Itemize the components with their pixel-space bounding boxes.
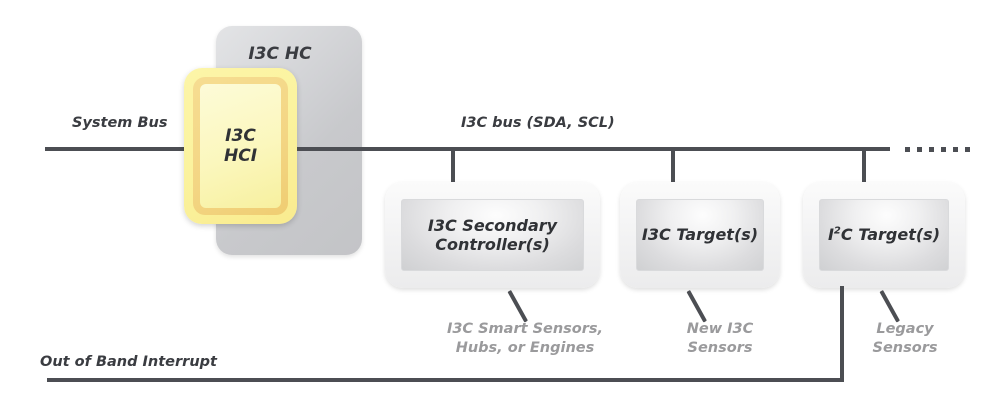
device-inner-panel: I3C Target(s): [636, 199, 764, 271]
caption-line2: Sensors: [688, 340, 753, 356]
caption-line2: Hubs, or Engines: [456, 340, 595, 356]
device-title: I3C Target(s): [642, 225, 758, 244]
caption-line1: I3C Smart Sensors,: [447, 321, 603, 337]
device-title-superscript: 2: [834, 226, 841, 237]
device-title: I2C Target(s): [828, 225, 940, 244]
bus-dot: [905, 147, 910, 152]
device-inner-panel: I2C Target(s): [819, 199, 949, 271]
caption-legacy-sensors: Legacy Sensors: [825, 320, 985, 357]
system-bus-line: [45, 147, 192, 151]
device-box-i2c-target[interactable]: I2C Target(s): [803, 182, 965, 288]
device-title: I3C Secondary Controller(s): [428, 216, 557, 254]
i3c-hci-label-line2: HCI: [224, 146, 257, 166]
i3c-hci-label-line1: I3C: [225, 126, 256, 146]
i3c-bus-line: [297, 147, 890, 151]
drop-line-i3c-target: [671, 147, 675, 185]
out-of-band-interrupt-label: Out of Band Interrupt: [40, 354, 217, 370]
caption-line1: Legacy: [876, 321, 933, 337]
bus-dot: [953, 147, 958, 152]
device-title-line1: I3C Secondary: [428, 216, 557, 235]
device-title-line1: I3C Target(s): [642, 225, 758, 244]
diagram-canvas: System Bus I3C HC I3C HCI I3C bus (SDA, …: [0, 0, 1000, 419]
drop-line-i2c-target: [862, 147, 866, 185]
leader-line-i3c-smart-sensors: [508, 290, 528, 323]
leader-line-legacy-sensors: [880, 290, 900, 323]
out-of-band-interrupt-line: [47, 378, 844, 382]
device-inner-panel: I3C Secondary Controller(s): [401, 199, 584, 271]
caption-new-i3c-sensors: New I3C Sensors: [630, 320, 810, 357]
device-box-i3c-secondary-controller[interactable]: I3C Secondary Controller(s): [385, 182, 600, 288]
i3c-bus-label: I3C bus (SDA, SCL): [461, 115, 615, 131]
device-box-i3c-target[interactable]: I3C Target(s): [620, 182, 780, 288]
i3c-hci-border: I3C HCI: [193, 77, 288, 215]
i3c-hci-inner: I3C HCI: [200, 84, 281, 208]
device-title-suffix: C Target(s): [841, 225, 940, 244]
i3c-hc-label: I3C HC: [216, 44, 344, 64]
bus-dot: [965, 147, 970, 152]
bus-dot: [941, 147, 946, 152]
caption-line1: New I3C: [687, 321, 754, 337]
i3c-hci-label: I3C HCI: [224, 126, 257, 166]
caption-line2: Sensors: [873, 340, 938, 356]
drop-line-secondary-controller: [451, 147, 455, 185]
i3c-hci-block[interactable]: I3C HCI: [184, 68, 297, 224]
system-bus-label: System Bus: [72, 115, 167, 131]
bus-dot: [917, 147, 922, 152]
bus-dot: [929, 147, 934, 152]
device-title-line2: Controller(s): [435, 235, 550, 254]
leader-line-new-i3c-sensors: [687, 290, 707, 323]
caption-i3c-smart-sensors: I3C Smart Sensors, Hubs, or Engines: [405, 320, 645, 357]
out-of-band-interrupt-riser: [840, 286, 844, 382]
bus-continuation-dots: [905, 147, 970, 152]
